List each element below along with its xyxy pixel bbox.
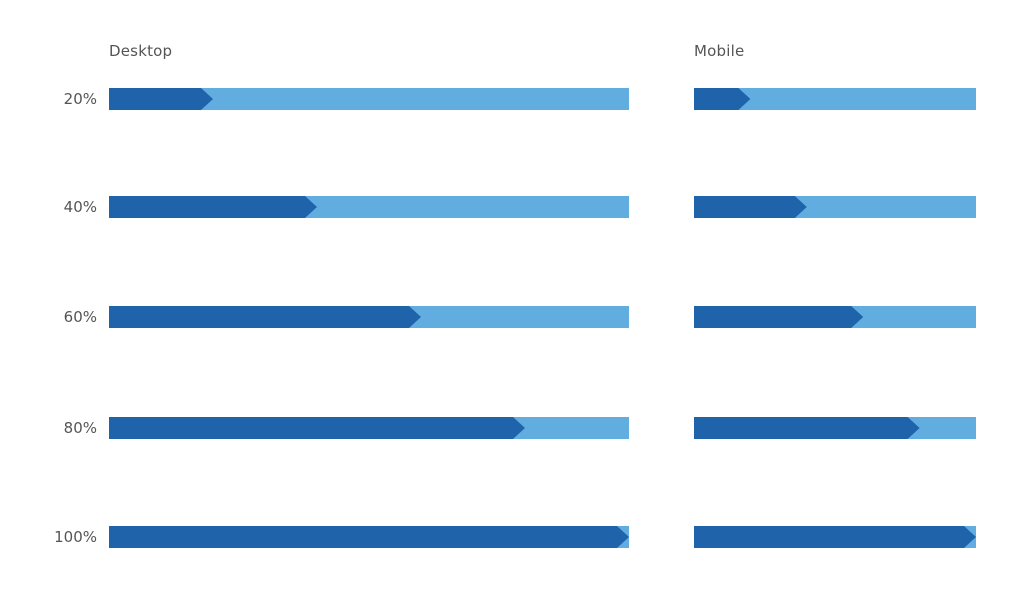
row-label-80: 80% [0, 421, 97, 436]
bar-desktop-100 [109, 526, 629, 548]
bar-fill-chevron [694, 306, 863, 328]
bar-mobile-100 [694, 526, 976, 548]
bar-fill-chevron [109, 417, 525, 439]
bar-mobile-40 [694, 196, 976, 218]
bar-desktop-80 [109, 417, 629, 439]
row-label-20: 20% [0, 92, 97, 107]
row-label-40: 40% [0, 200, 97, 215]
bar-desktop-20 [109, 88, 629, 110]
bar-mobile-60 [694, 306, 976, 328]
bar-mobile-80 [694, 417, 976, 439]
bar-mobile-20 [694, 88, 976, 110]
bar-fill-chevron [109, 88, 213, 110]
bar-desktop-60 [109, 306, 629, 328]
row-label-100: 100% [0, 530, 97, 545]
bar-fill-chevron [694, 526, 976, 548]
bar-fill-chevron [694, 196, 807, 218]
chevron-progress-chart: DesktopMobile20%40%60%80%100% [0, 0, 1028, 612]
bar-fill-chevron [694, 417, 920, 439]
bar-fill-chevron [109, 196, 317, 218]
column-header-desktop: Desktop [109, 44, 172, 59]
column-header-mobile: Mobile [694, 44, 744, 59]
bar-desktop-40 [109, 196, 629, 218]
bar-fill-chevron [109, 526, 629, 548]
bar-fill-chevron [694, 88, 750, 110]
row-label-60: 60% [0, 310, 97, 325]
bar-fill-chevron [109, 306, 421, 328]
